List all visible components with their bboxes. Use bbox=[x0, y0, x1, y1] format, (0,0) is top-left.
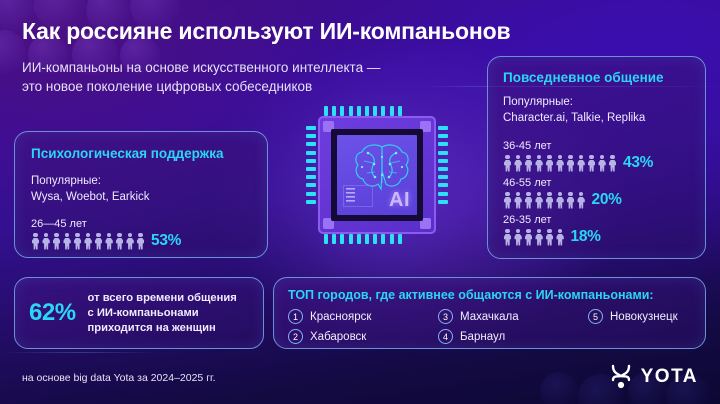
chip-pins-top bbox=[324, 106, 402, 116]
city-rank-badge: 2 bbox=[288, 329, 303, 344]
card-daily-title: Повседневное общение bbox=[503, 70, 690, 85]
person-icon bbox=[84, 233, 93, 250]
daily-percent-2: 18% bbox=[571, 228, 601, 246]
city-name: Красноярск bbox=[310, 311, 371, 323]
ai-chip-illustration: AI bbox=[300, 102, 452, 262]
list-item: 2 Хабаровск bbox=[288, 329, 438, 344]
card-psych-popular-apps: Wysa, Woebot, Earkick bbox=[31, 189, 251, 205]
chip-detail-marks bbox=[343, 185, 373, 207]
card-daily-communication: Повседневное общение Популярные: Charact… bbox=[487, 56, 706, 259]
chip-pins-bottom bbox=[324, 234, 402, 244]
person-icon bbox=[545, 229, 554, 246]
person-icon bbox=[514, 155, 523, 172]
daily-percent-1: 20% bbox=[592, 191, 622, 209]
card-top-cities: ТОП городов, где активнее общаются с ИИ-… bbox=[273, 277, 706, 349]
daily-age-0: 36-45 лет bbox=[503, 140, 690, 152]
card-psych-title: Психологическая поддержка bbox=[31, 146, 251, 161]
card-daily-popular-apps: Character.ai, Talkie, Replika bbox=[503, 110, 690, 126]
infographic-canvas: Как россияне используют ИИ-компаньонов И… bbox=[0, 0, 720, 404]
person-icon-group bbox=[503, 155, 617, 172]
daily-age-1: 46-55 лет bbox=[503, 177, 690, 189]
women-text-line-2: с ИИ-компаньонами bbox=[88, 306, 237, 321]
chip-pins-right bbox=[438, 126, 448, 204]
person-icon bbox=[31, 233, 40, 250]
person-icon bbox=[608, 155, 617, 172]
list-item: 3 Махачкала bbox=[438, 309, 588, 324]
daily-row-2: 26-35 лет 18% bbox=[503, 214, 690, 246]
cities-column-3: 5 Новокузнецк bbox=[588, 309, 678, 344]
yota-logo: YOTA bbox=[609, 363, 698, 390]
subtitle-line-1: ИИ-компаньоны на основе искусственного и… bbox=[22, 58, 380, 77]
person-icon bbox=[126, 233, 135, 250]
yota-mark-icon bbox=[609, 363, 633, 390]
person-icon-group bbox=[31, 233, 145, 250]
person-icon bbox=[94, 233, 103, 250]
cities-title: ТОП городов, где активнее общаются с ИИ-… bbox=[288, 288, 691, 302]
person-icon bbox=[52, 233, 61, 250]
person-icon bbox=[545, 155, 554, 172]
chip-inner-frame: AI bbox=[331, 129, 423, 221]
daily-row-0: 36-45 лет 43% bbox=[503, 140, 690, 172]
chip-ai-label: AI bbox=[389, 189, 410, 212]
person-icon bbox=[577, 155, 586, 172]
city-rank-badge: 5 bbox=[588, 309, 603, 324]
person-icon bbox=[566, 192, 575, 209]
chip-body: AI bbox=[318, 116, 436, 234]
women-share-percent: 62% bbox=[29, 299, 76, 327]
card-women-share: 62% от всего времени общения с ИИ-компан… bbox=[14, 277, 264, 349]
person-icon bbox=[105, 233, 114, 250]
chip-screen: AI bbox=[337, 135, 417, 215]
person-icon bbox=[73, 233, 82, 250]
page-title: Как россияне используют ИИ-компаньонов bbox=[22, 18, 510, 45]
card-daily-popular-label: Популярные: bbox=[503, 94, 690, 110]
city-name: Барнаул bbox=[460, 331, 505, 343]
person-icon bbox=[556, 192, 565, 209]
person-icon bbox=[535, 229, 544, 246]
person-icon bbox=[524, 155, 533, 172]
card-psych-stat-row: 53% bbox=[31, 232, 251, 250]
person-icon bbox=[556, 155, 565, 172]
person-icon bbox=[42, 233, 51, 250]
list-item: 4 Барнаул bbox=[438, 329, 588, 344]
person-icon bbox=[535, 155, 544, 172]
person-icon bbox=[514, 192, 523, 209]
person-icon bbox=[587, 155, 596, 172]
card-psych-popular-label: Популярные: bbox=[31, 173, 251, 189]
card-psych-age-group: 26—45 лет bbox=[31, 218, 251, 230]
person-icon bbox=[566, 155, 575, 172]
person-icon bbox=[136, 233, 145, 250]
women-text-line-1: от всего времени общения bbox=[88, 291, 237, 306]
daily-percent-0: 43% bbox=[623, 154, 653, 172]
person-icon bbox=[577, 192, 586, 209]
footer-note: на основе big data Yota за 2024–2025 гг. bbox=[22, 372, 216, 384]
city-name: Хабаровск bbox=[310, 331, 366, 343]
card-psychological-support: Психологическая поддержка Популярные: Wy… bbox=[14, 131, 268, 258]
women-share-text: от всего времени общения с ИИ-компаньона… bbox=[88, 291, 237, 336]
city-rank-badge: 3 bbox=[438, 309, 453, 324]
person-icon bbox=[524, 229, 533, 246]
person-icon bbox=[503, 192, 512, 209]
list-item: 1 Красноярск bbox=[288, 309, 438, 324]
women-text-line-3: приходится на женщин bbox=[88, 321, 237, 336]
person-icon bbox=[556, 229, 565, 246]
person-icon-group bbox=[503, 229, 565, 246]
card-psych-percent: 53% bbox=[151, 232, 181, 250]
person-icon bbox=[63, 233, 72, 250]
chip-pins-left bbox=[306, 126, 316, 204]
city-rank-badge: 1 bbox=[288, 309, 303, 324]
city-rank-badge: 4 bbox=[438, 329, 453, 344]
person-icon bbox=[524, 192, 533, 209]
card-daily-rows: 36-45 лет 43% 46-55 лет 20% 26-35 лет 18… bbox=[503, 140, 690, 246]
person-icon bbox=[545, 192, 554, 209]
person-icon-group bbox=[503, 192, 586, 209]
cities-column-2: 3 Махачкала 4 Барнаул bbox=[438, 309, 588, 344]
person-icon bbox=[535, 192, 544, 209]
cities-list: 1 Красноярск 2 Хабаровск 3 Махачкала 4 Б… bbox=[288, 309, 691, 344]
city-name: Махачкала bbox=[460, 311, 519, 323]
person-icon bbox=[598, 155, 607, 172]
person-icon bbox=[503, 155, 512, 172]
list-item: 5 Новокузнецк bbox=[588, 309, 678, 324]
cities-column-1: 1 Красноярск 2 Хабаровск bbox=[288, 309, 438, 344]
person-icon bbox=[514, 229, 523, 246]
daily-row-1: 46-55 лет 20% bbox=[503, 177, 690, 209]
person-icon bbox=[503, 229, 512, 246]
daily-age-2: 26-35 лет bbox=[503, 214, 690, 226]
yota-logo-text: YOTA bbox=[641, 366, 698, 388]
person-icon bbox=[115, 233, 124, 250]
city-name: Новокузнецк bbox=[610, 311, 678, 323]
